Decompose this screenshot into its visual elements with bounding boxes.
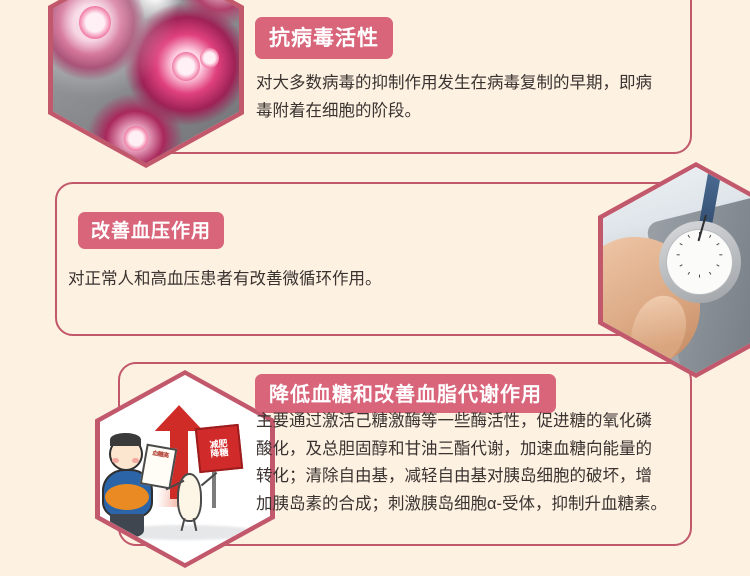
gauge-tick (699, 274, 700, 277)
virus-cells-artwork (53, 0, 239, 163)
virus-nucleus (79, 6, 111, 39)
body-text-blood-sugar-lipid: 主要通过激活己糖激酶等一些酶活性，促进糖的氧化磷酸化，及总胆固醇和甘油三酯代谢，… (256, 408, 668, 518)
badge-antiviral: 抗病毒活性 (255, 17, 393, 59)
weight-loss-sign-text: 减肥 降糖 (209, 438, 229, 458)
cartoon-man-hair (110, 433, 141, 446)
gauge-tick (719, 254, 722, 255)
background-blue-light (607, 179, 631, 200)
body-text-antiviral: 对大多数病毒的抑制作用发生在病毒复制的早期，即病毒附着在细胞的阶段。 (256, 69, 666, 125)
blood-sugar-note-text: 血糖高 (146, 451, 173, 462)
virus-nucleus (200, 48, 219, 69)
cartoon-man-cheek (112, 458, 119, 464)
blood-pressure-gauge-image (598, 162, 750, 378)
virus-cells-micrograph-image (48, 0, 244, 168)
diabetes-cartoon-image: 血糖高 减肥 降糖 (95, 370, 275, 568)
blood-sugar-note: 血糖高 (139, 444, 176, 490)
gauge-tick (676, 254, 679, 255)
badge-blood-pressure: 改善血压作用 (78, 212, 224, 249)
virus-nucleus (124, 126, 148, 151)
promo-infographic-page: 抗病毒活性 对大多数病毒的抑制作用发生在病毒复制的早期，即病毒附着在细胞的阶段。 (0, 0, 750, 576)
section-card-blood-pressure (55, 182, 692, 336)
weight-loss-sign: 减肥 降糖 (195, 424, 244, 473)
hexagon-mask (603, 167, 750, 373)
blood-pressure-artwork (603, 167, 750, 373)
body-text-blood-pressure: 对正常人和高血压患者有改善微循环作用。 (68, 265, 538, 293)
hexagon-mask (53, 0, 239, 163)
virus-nucleus (172, 52, 200, 81)
